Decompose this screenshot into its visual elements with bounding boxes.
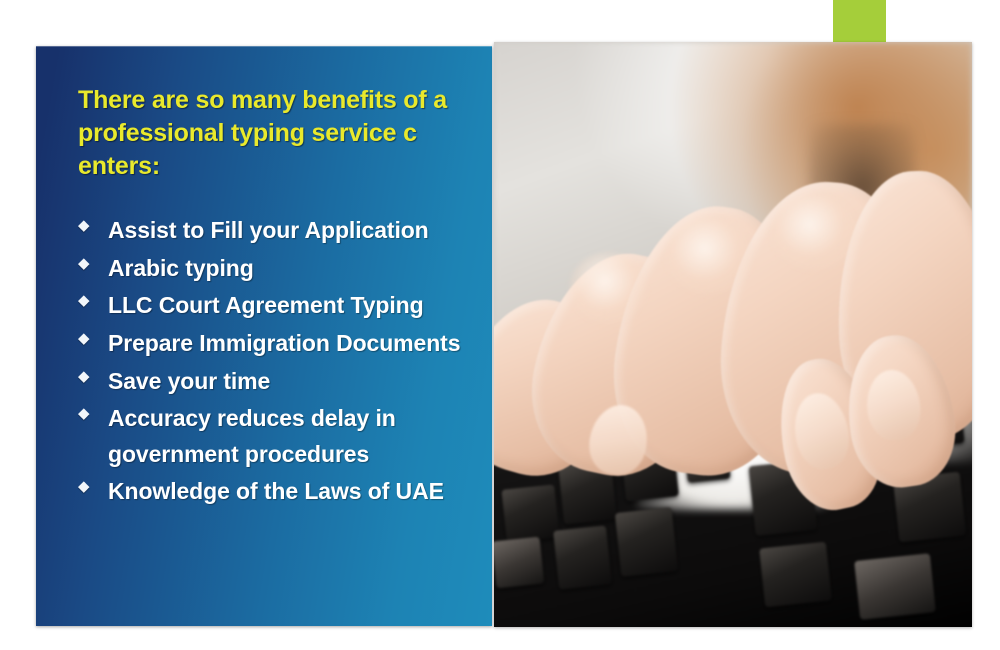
list-item-label: Save your time bbox=[108, 364, 270, 400]
diamond-bullet-icon: ◆ bbox=[78, 401, 98, 421]
knuckle-highlight bbox=[570, 253, 646, 323]
photo-scene bbox=[494, 42, 972, 627]
diamond-bullet-icon: ◆ bbox=[78, 288, 98, 308]
diamond-bullet-icon: ◆ bbox=[78, 326, 98, 346]
list-item-label: Assist to Fill your Application bbox=[108, 213, 429, 249]
panel-content: There are so many benefits of a professi… bbox=[36, 46, 492, 626]
hands-typing-on-keyboard-photo bbox=[494, 42, 972, 627]
keyboard-key bbox=[615, 507, 679, 577]
benefits-list: ◆ Assist to Fill your Application ◆ Arab… bbox=[78, 213, 476, 510]
diamond-bullet-icon: ◆ bbox=[78, 474, 98, 494]
list-item: ◆ Assist to Fill your Application bbox=[78, 213, 476, 249]
keyboard-key bbox=[501, 484, 559, 542]
list-item: ◆ Save your time bbox=[78, 364, 476, 400]
list-item-label: LLC Court Agreement Typing bbox=[108, 288, 424, 324]
diamond-bullet-icon: ◆ bbox=[78, 251, 98, 271]
list-item-label: Knowledge of the Laws of UAE bbox=[108, 474, 444, 510]
diamond-bullet-icon: ◆ bbox=[78, 364, 98, 384]
keyboard-key bbox=[759, 542, 832, 607]
knuckle-highlight bbox=[771, 194, 857, 270]
diamond-bullet-icon: ◆ bbox=[78, 213, 98, 233]
slide-heading: There are so many benefits of a professi… bbox=[78, 84, 468, 183]
keyboard-key bbox=[553, 525, 611, 589]
knuckle-highlight bbox=[666, 218, 752, 294]
slide-canvas: There are so many benefits of a professi… bbox=[0, 0, 1000, 650]
list-item: ◆ Arabic typing bbox=[78, 251, 476, 287]
list-item: ◆ Knowledge of the Laws of UAE bbox=[78, 474, 476, 510]
blue-content-panel: There are so many benefits of a professi… bbox=[36, 46, 492, 626]
list-item-label: Arabic typing bbox=[108, 251, 254, 287]
list-item-label: Prepare Immigration Documents bbox=[108, 326, 460, 362]
list-item: ◆ Prepare Immigration Documents bbox=[78, 326, 476, 362]
list-item: ◆ LLC Court Agreement Typing bbox=[78, 288, 476, 324]
list-item: ◆ Accuracy reduces delay in government p… bbox=[78, 401, 476, 472]
keyboard-key bbox=[854, 553, 936, 619]
green-accent-bar bbox=[833, 0, 886, 45]
list-item-label: Accuracy reduces delay in government pro… bbox=[108, 401, 468, 472]
keyboard-key bbox=[494, 537, 544, 589]
